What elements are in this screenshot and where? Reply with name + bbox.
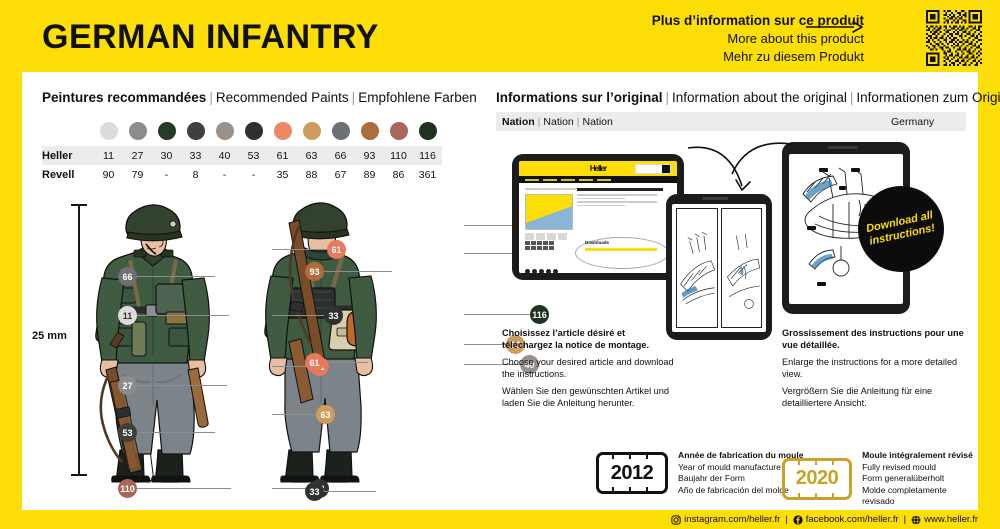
aircraft-line-drawing [677, 209, 717, 327]
revell-code: 35 [268, 169, 297, 181]
revell-code: 90 [94, 169, 123, 181]
caption2-fr: Grossissement des instructions pour une … [782, 328, 974, 352]
callout-leader-line [272, 414, 316, 415]
callout-bubble: 33 [305, 482, 324, 501]
heller-code: 33 [181, 150, 210, 162]
heller-code: 53 [239, 150, 268, 162]
sticker-text: Download all instructions! [865, 210, 937, 249]
revell-code: 8 [181, 169, 210, 181]
paint-swatch [413, 122, 442, 140]
divider: | [349, 90, 359, 105]
paint-swatch [384, 122, 413, 140]
thumbnail[interactable] [525, 233, 534, 240]
divider: | [574, 116, 583, 128]
paint-callout: 66 [118, 267, 215, 286]
search-icon[interactable] [662, 165, 670, 173]
divider: | [847, 90, 857, 105]
paint-color-dot [332, 122, 350, 140]
nation-label-en: Nation [543, 116, 573, 128]
revell-label: Revell [42, 169, 94, 181]
product-info-promo: Plus d’information sur ce produit More a… [652, 8, 982, 66]
paint-callout: 61 [272, 240, 346, 259]
rating-stars [525, 269, 558, 273]
site-search-input[interactable] [635, 164, 671, 174]
callout-bubble: 61 [327, 240, 346, 259]
caption1-de: Wählen Sie den gewünschten Artikel und l… [502, 386, 677, 410]
content-panel: Peintures recommandées|Recommended Paint… [22, 72, 978, 510]
thumbnail[interactable] [536, 233, 545, 240]
paints-heading-de: Empfohlene Farben [358, 90, 477, 105]
product-line [577, 198, 625, 200]
caption2-de: Vergrößern Sie die Anleitung für eine de… [782, 386, 974, 410]
aircraft-line-drawing [722, 209, 762, 327]
paint-color-dot [303, 122, 321, 140]
paint-callout: 33 [272, 306, 343, 325]
heller-code: 27 [123, 150, 152, 162]
original-info-column: Informations sur l’original|Information … [482, 72, 978, 510]
revell-code: - [210, 169, 239, 181]
callout-bubble: 53 [118, 423, 137, 442]
nav-item[interactable] [543, 179, 557, 181]
website-link[interactable]: www.heller.fr [911, 514, 978, 525]
downloads-label: Downloads [585, 240, 609, 245]
callout-leader-line [272, 249, 327, 250]
nation-row: Nation|Nation|Nation Germany [496, 112, 966, 131]
page-header: GERMAN INFANTRY Plus d’information sur c… [0, 0, 1000, 72]
paint-color-dot [100, 122, 118, 140]
callout-leader-line [324, 271, 392, 272]
paint-swatch-row [42, 116, 442, 146]
device-illustrations: Heller [490, 134, 976, 324]
divider: | [785, 514, 787, 525]
product-line [577, 194, 657, 196]
paint-swatch [123, 122, 152, 140]
paint-color-dot [390, 122, 408, 140]
paint-swatch [268, 122, 297, 140]
figure-illustrations: 616611332761635311033 66309311662406133 [22, 192, 482, 492]
revell-code: - [152, 169, 181, 181]
promo-text-de: Mehr zu diesem Produkt [652, 48, 864, 66]
breadcrumb [525, 188, 585, 190]
paint-swatch-grid [525, 241, 554, 250]
product-info [577, 188, 669, 208]
instruction-pages-screen [672, 204, 766, 332]
heller-code: 11 [94, 150, 123, 162]
nation-value: Germany [891, 116, 934, 128]
facebook-url: facebook.com/heller.fr [806, 514, 899, 525]
mould-revised: 2020 Moule intégralement révisé Fully re… [782, 450, 978, 508]
mould-year-box-2012: 2012 [596, 452, 668, 494]
callout-leader-line [324, 362, 368, 363]
download-link-bar[interactable] [585, 248, 657, 251]
original-heading-fr: Informations sur l’original [496, 90, 663, 105]
product-line [577, 205, 625, 207]
paint-color-dot [129, 122, 147, 140]
instruction-spread [676, 208, 762, 328]
revell-code: 86 [384, 169, 413, 181]
callout-bubble: 66 [118, 267, 137, 286]
tablet-instruction-pages [666, 194, 772, 340]
heller-label: Heller [42, 150, 94, 162]
callout-bubble: 11 [118, 306, 137, 325]
paint-swatch [355, 122, 384, 140]
callout-bubble: 27 [118, 376, 137, 395]
callout-bubble: 63 [316, 405, 335, 424]
caption-choose-article: Choisissez l’article désiré et télécharg… [502, 328, 677, 410]
mould-year-2020: 2020 [796, 467, 839, 490]
caption1-en: Choose your desired article and download… [502, 357, 677, 381]
paints-and-figures-column: Peintures recommandées|Recommended Paint… [22, 72, 482, 510]
paint-swatch [152, 122, 181, 140]
globe-icon[interactable] [911, 515, 921, 525]
nav-item[interactable] [561, 179, 575, 181]
paints-heading: Peintures recommandées|Recommended Paint… [42, 90, 477, 105]
thumbnail[interactable] [547, 233, 556, 240]
heller-code: 66 [326, 150, 355, 162]
soldier-figures-svg [22, 192, 482, 492]
paint-color-dot [187, 122, 205, 140]
mould2-en: Fully revised mould [862, 462, 978, 474]
facebook-link[interactable]: facebook.com/heller.fr [793, 514, 899, 525]
qr-code-icon[interactable] [926, 10, 982, 66]
paint-callout: 63 [272, 405, 335, 424]
caption2-en: Enlarge the instructions for a more deta… [782, 357, 974, 381]
revell-row: Revell 9079-8--3588678986361 [42, 165, 442, 184]
nation-label-de: Nation [583, 116, 613, 128]
paints-table: Heller 11273033405361636693110116 Revell… [42, 116, 442, 184]
mould2-es: Molde completamente revisado [862, 485, 978, 508]
mould-year-manufacture: 2012 Année de fabrication du moule Year … [596, 450, 804, 496]
paint-swatch [94, 122, 123, 140]
paint-callout: 53 [118, 423, 215, 442]
callout-bubble: 33 [324, 306, 343, 325]
heller-row: Heller 11273033405361636693110116 [42, 146, 442, 165]
callout-leader-line [137, 385, 227, 386]
website-screen: Heller [519, 161, 677, 273]
paint-swatch [297, 122, 326, 140]
heller-code: 93 [355, 150, 384, 162]
nation-labels: Nation|Nation|Nation [496, 116, 613, 128]
paint-color-dot [361, 122, 379, 140]
divider: | [206, 90, 216, 105]
paint-color-dot [419, 122, 437, 140]
divider: | [663, 90, 673, 105]
paint-swatch [181, 122, 210, 140]
nation-label-fr: Nation [502, 116, 535, 128]
product-image [525, 194, 573, 230]
site-navbar[interactable] [519, 176, 677, 183]
heller-code: 30 [152, 150, 181, 162]
callout-leader-line [137, 276, 215, 277]
paint-swatch [239, 122, 268, 140]
curved-arrow-icon-2 [728, 134, 802, 180]
arrow-right-icon [806, 20, 866, 34]
site-header: Heller [519, 161, 677, 176]
paint-swatch [326, 122, 355, 140]
paint-callout: 33 [305, 482, 376, 501]
caption1-fr: Choisissez l’article désiré et télécharg… [502, 328, 677, 352]
footer-social-links: instagram.com/heller.fr | facebook.com/h… [0, 510, 1000, 529]
instagram-url: instagram.com/heller.fr [684, 514, 780, 525]
heller-logo: Heller [590, 164, 606, 173]
revell-code: 79 [123, 169, 152, 181]
revell-code: 361 [413, 169, 442, 181]
paint-callout: 11 [118, 306, 229, 325]
callout-leader-line [137, 315, 229, 316]
instagram-link[interactable]: instagram.com/heller.fr [671, 514, 780, 525]
heller-code: 61 [268, 150, 297, 162]
mould2-de: Form generalüberholt [862, 473, 978, 485]
paints-heading-en: Recommended Paints [216, 90, 349, 105]
product-title [577, 188, 663, 191]
revell-code: - [239, 169, 268, 181]
heller-code: 63 [297, 150, 326, 162]
divider: | [904, 514, 906, 525]
original-heading-de: Informationen zum Original [856, 90, 1000, 105]
website-url: www.heller.fr [924, 514, 978, 525]
callout-bubble: 110 [118, 479, 137, 498]
nav-item[interactable] [525, 179, 539, 181]
paint-callout: 110 [118, 479, 231, 498]
paint-color-dot [274, 122, 292, 140]
caption-enlarge-instructions: Grossissement des instructions pour une … [782, 328, 974, 410]
paint-callout: 93 [305, 262, 392, 281]
paints-heading-fr: Peintures recommandées [42, 90, 206, 105]
thumbnail[interactable] [558, 233, 567, 240]
heller-code: 110 [384, 150, 413, 162]
callout-leader-line [324, 491, 376, 492]
instruction-page-left [676, 208, 718, 328]
nav-item[interactable] [579, 179, 593, 181]
revell-code: 67 [326, 169, 355, 181]
paint-color-dot [245, 122, 263, 140]
callout-leader-line [272, 315, 324, 316]
product-line [577, 201, 657, 203]
callout-leader-line [137, 488, 231, 489]
original-heading-en: Information about the original [672, 90, 847, 105]
paint-color-dot [216, 122, 234, 140]
nav-item[interactable] [597, 179, 611, 181]
paint-color-dot [158, 122, 176, 140]
callout-bubble: 61 [305, 353, 324, 372]
paint-callout: 27 [118, 376, 227, 395]
tablet-website: Heller [512, 154, 684, 280]
mould2-fr: Moule intégralement révisé [862, 450, 973, 460]
mould-year-box-2020: 2020 [782, 458, 852, 500]
mould-year-2012: 2012 [611, 462, 654, 485]
heller-code: 116 [413, 150, 442, 162]
page-title: GERMAN INFANTRY [42, 18, 379, 57]
heller-code: 40 [210, 150, 239, 162]
mould-second-text: Moule intégralement révisé Fully revised… [862, 450, 978, 508]
instagram-icon[interactable] [671, 515, 681, 525]
paint-swatch [210, 122, 239, 140]
paint-callout: 61 [305, 353, 368, 372]
instruction-page-right [721, 208, 763, 328]
callout-leader-line [137, 432, 215, 433]
status-bar [828, 146, 858, 149]
facebook-icon[interactable] [793, 515, 803, 525]
callout-bubble: 93 [305, 262, 324, 281]
original-heading: Informations sur l’original|Information … [496, 90, 1000, 105]
site-body: Downloads [519, 183, 677, 245]
revell-code: 89 [355, 169, 384, 181]
revell-code: 88 [297, 169, 326, 181]
